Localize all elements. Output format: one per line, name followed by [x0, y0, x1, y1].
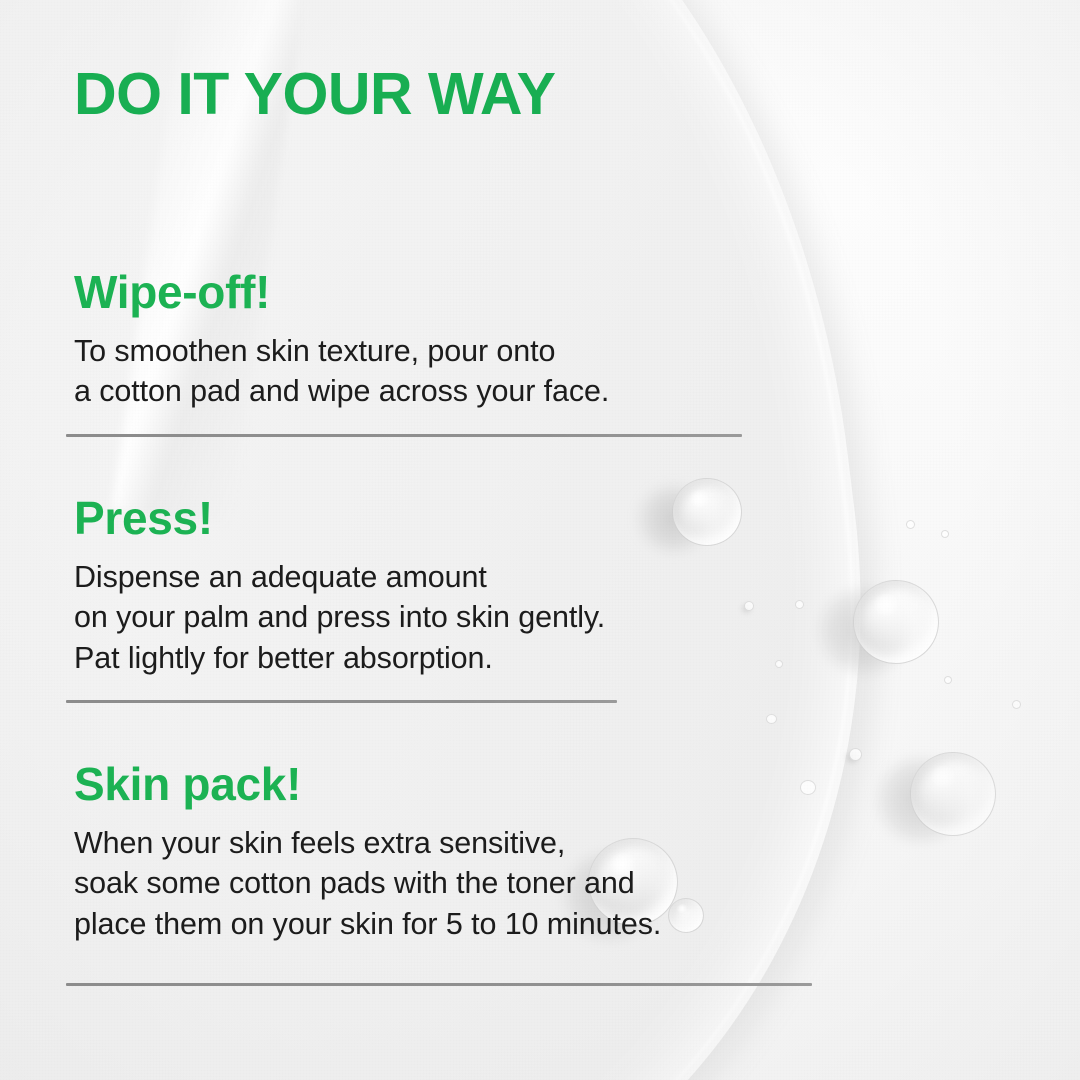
step-body-line: When your skin feels extra sensitive, — [74, 823, 661, 864]
promo-graphic: DO IT YOUR WAY Wipe-off! To smoothen ski… — [0, 0, 1080, 1080]
step-body-line: To smoothen skin texture, pour onto — [74, 331, 609, 372]
step-heading: Wipe-off! — [74, 266, 609, 319]
instruction-step-wipe-off: Wipe-off! To smoothen skin texture, pour… — [74, 266, 609, 412]
step-body-line: soak some cotton pads with the toner and — [74, 863, 661, 904]
step-body: When your skin feels extra sensitive, so… — [74, 823, 661, 945]
step-body-line: Pat lightly for better absorption. — [74, 638, 605, 679]
step-heading: Skin pack! — [74, 758, 661, 811]
step-body-line: on your palm and press into skin gently. — [74, 597, 605, 638]
step-heading: Press! — [74, 492, 605, 545]
step-divider — [66, 983, 812, 986]
step-body: Dispense an adequate amount on your palm… — [74, 557, 605, 679]
instruction-step-press: Press! Dispense an adequate amount on yo… — [74, 492, 605, 679]
step-body: To smoothen skin texture, pour onto a co… — [74, 331, 609, 412]
step-body-line: Dispense an adequate amount — [74, 557, 605, 598]
step-body-line: place them on your skin for 5 to 10 minu… — [74, 904, 661, 945]
step-divider — [66, 700, 617, 703]
step-body-line: a cotton pad and wipe across your face. — [74, 371, 609, 412]
page-title: DO IT YOUR WAY — [74, 62, 555, 127]
step-divider — [66, 434, 742, 437]
instruction-step-skin-pack: Skin pack! When your skin feels extra se… — [74, 758, 661, 945]
